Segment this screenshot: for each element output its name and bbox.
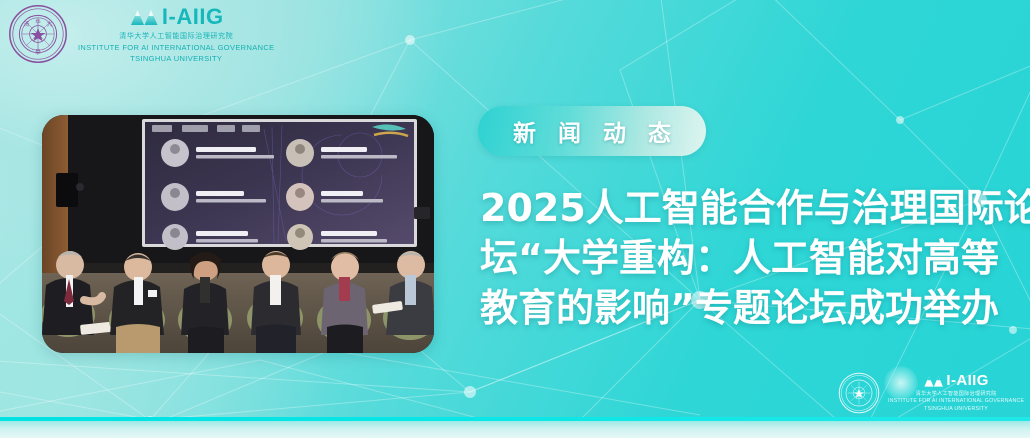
photo-content <box>42 115 434 353</box>
brand-name-cn: 清华大学人工智能国际治理研究院 <box>119 31 233 41</box>
brand-logo-lockup: 清华大學 I-AIIG 清华大学人工智能国际治理研究院 <box>8 4 274 64</box>
tsinghua-university-seal-icon <box>838 372 880 414</box>
tsinghua-university-seal-icon: 清华大學 <box>8 4 68 64</box>
brand-name-en-line2: TSINGHUA UNIVERSITY <box>78 54 274 64</box>
i-aiig-wordmark-footer: I-AIIG <box>923 373 988 388</box>
i-aiig-mountain-mark-icon <box>923 374 944 388</box>
brand-name-en-footer: INSTITUTE FOR AI INTERNATIONAL GOVERNANC… <box>888 398 1024 412</box>
headline-line-2: 坛“大学重构：人工智能对高等 <box>480 233 1025 283</box>
i-aiig-wordmark: I-AIIG <box>129 6 224 28</box>
brand-logo-lockup-footer: I-AIIG 清华大学人工智能国际治理研究院 INSTITUTE FOR AI … <box>838 372 1024 414</box>
news-banner: 清华大學 I-AIIG 清华大学人工智能国际治理研究院 <box>0 0 1030 438</box>
page-title: 2025人工智能合作与治理国际论 坛“大学重构：人工智能对高等 教育的影响”专题… <box>480 183 1025 333</box>
headline-line-3: 教育的影响”专题论坛成功举办 <box>480 283 1025 333</box>
panel-discussion-photo <box>42 115 434 353</box>
brand-name-en: INSTITUTE FOR AI INTERNATIONAL GOVERNANC… <box>78 43 274 63</box>
brand-name-en-footer-line2: TSINGHUA UNIVERSITY <box>888 406 1024 413</box>
bottom-fade-band <box>0 421 1030 438</box>
i-aiig-mountain-mark-icon <box>129 7 159 27</box>
brand-name-cn-footer: 清华大学人工智能国际治理研究院 <box>916 390 997 397</box>
headline-line-1: 2025人工智能合作与治理国际论 <box>480 183 1025 233</box>
wordmark-letters-footer: I-AIIG <box>946 373 988 388</box>
brand-name-en-line1: INSTITUTE FOR AI INTERNATIONAL GOVERNANC… <box>78 43 274 53</box>
wordmark-letters: I-AIIG <box>162 6 224 28</box>
news-category-label: 新 闻 动 态 <box>506 114 678 148</box>
news-category-badge: 新 闻 动 态 <box>478 106 706 156</box>
brand-name-en-footer-line1: INSTITUTE FOR AI INTERNATIONAL GOVERNANC… <box>888 398 1024 405</box>
